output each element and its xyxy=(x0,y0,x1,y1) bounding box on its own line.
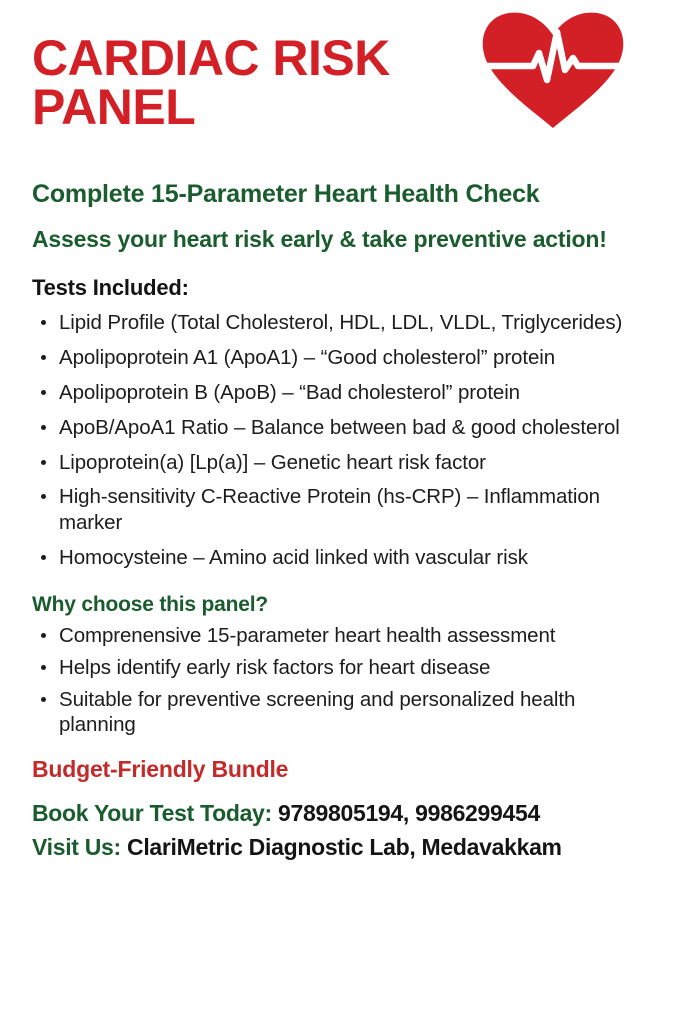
list-item: Lipoprotein(a) [Lp(a)] – Genetic heart r… xyxy=(32,450,651,476)
list-item-label: Lipid Profile (Total Cholesterol, HDL, L… xyxy=(59,311,622,334)
bullet-dot-icon xyxy=(41,460,46,465)
list-item-label: Apolipoprotein B (ApoB) – “Bad cholester… xyxy=(59,381,520,404)
tagline: Assess your heart risk early & take prev… xyxy=(32,225,632,254)
bullet-dot-icon xyxy=(41,633,46,638)
list-item-label: Apolipoprotein A1 (ApoA1) – “Good choles… xyxy=(59,346,555,369)
list-item-label: Lipoprotein(a) [Lp(a)] – Genetic heart r… xyxy=(59,451,486,474)
bullet-dot-icon xyxy=(41,355,46,360)
booking-label: Book Your Test Today: xyxy=(32,800,272,826)
list-item-label: Helps identify early risk factors for he… xyxy=(59,656,490,679)
list-item: Helps identify early risk factors for he… xyxy=(32,655,651,681)
list-item-label: Suitable for preventive screening and pe… xyxy=(59,688,575,737)
list-item: Homocysteine – Amino acid linked with va… xyxy=(32,545,651,571)
page-title: CARDIAC RISK PANEL xyxy=(32,34,492,131)
why-choose-heading: Why choose this panel? xyxy=(32,593,651,617)
list-item-label: Homocysteine – Amino acid linked with va… xyxy=(59,546,528,569)
list-item: Comprenensive 15-parameter heart health … xyxy=(32,623,651,649)
booking-line: Book Your Test Today: 9789805194, 998629… xyxy=(32,799,651,829)
heart-pulse-icon xyxy=(477,8,629,132)
flyer-page: CARDIAC RISK PANEL Complete 15-Parameter… xyxy=(0,0,683,1024)
bullet-dot-icon xyxy=(41,320,46,325)
lab-address: ClariMetric Diagnostic Lab, Medavakkam xyxy=(127,834,562,860)
list-item: Apolipoprotein B (ApoB) – “Bad cholester… xyxy=(32,380,651,406)
list-item: High-sensitivity C-Reactive Protein (hs-… xyxy=(32,484,651,536)
subtitle: Complete 15-Parameter Heart Health Check xyxy=(32,180,651,210)
tests-included-list: Lipid Profile (Total Cholesterol, HDL, L… xyxy=(32,310,651,571)
header: CARDIAC RISK PANEL xyxy=(32,0,651,166)
bullet-dot-icon xyxy=(41,697,46,702)
list-item: Suitable for preventive screening and pe… xyxy=(32,687,651,739)
list-item-label: High-sensitivity C-Reactive Protein (hs-… xyxy=(59,485,600,534)
bullet-dot-icon xyxy=(41,494,46,499)
list-item-label: ApoB/ApoA1 Ratio – Balance between bad &… xyxy=(59,416,620,439)
visit-line: Visit Us: ClariMetric Diagnostic Lab, Me… xyxy=(32,833,651,863)
budget-friendly-badge: Budget-Friendly Bundle xyxy=(32,756,651,783)
why-choose-list: Comprenensive 15-parameter heart health … xyxy=(32,623,651,738)
bullet-dot-icon xyxy=(41,665,46,670)
tests-included-heading: Tests Included: xyxy=(32,275,651,301)
phone-numbers[interactable]: 9789805194, 9986299454 xyxy=(278,800,540,826)
list-item: Lipid Profile (Total Cholesterol, HDL, L… xyxy=(32,310,651,336)
visit-label: Visit Us: xyxy=(32,834,121,860)
bullet-dot-icon xyxy=(41,555,46,560)
bullet-dot-icon xyxy=(41,425,46,430)
contact-footer: Book Your Test Today: 9789805194, 998629… xyxy=(32,799,651,863)
list-item: Apolipoprotein A1 (ApoA1) – “Good choles… xyxy=(32,345,651,371)
bullet-dot-icon xyxy=(41,390,46,395)
list-item-label: Comprenensive 15-parameter heart health … xyxy=(59,624,555,647)
list-item: ApoB/ApoA1 Ratio – Balance between bad &… xyxy=(32,415,651,441)
